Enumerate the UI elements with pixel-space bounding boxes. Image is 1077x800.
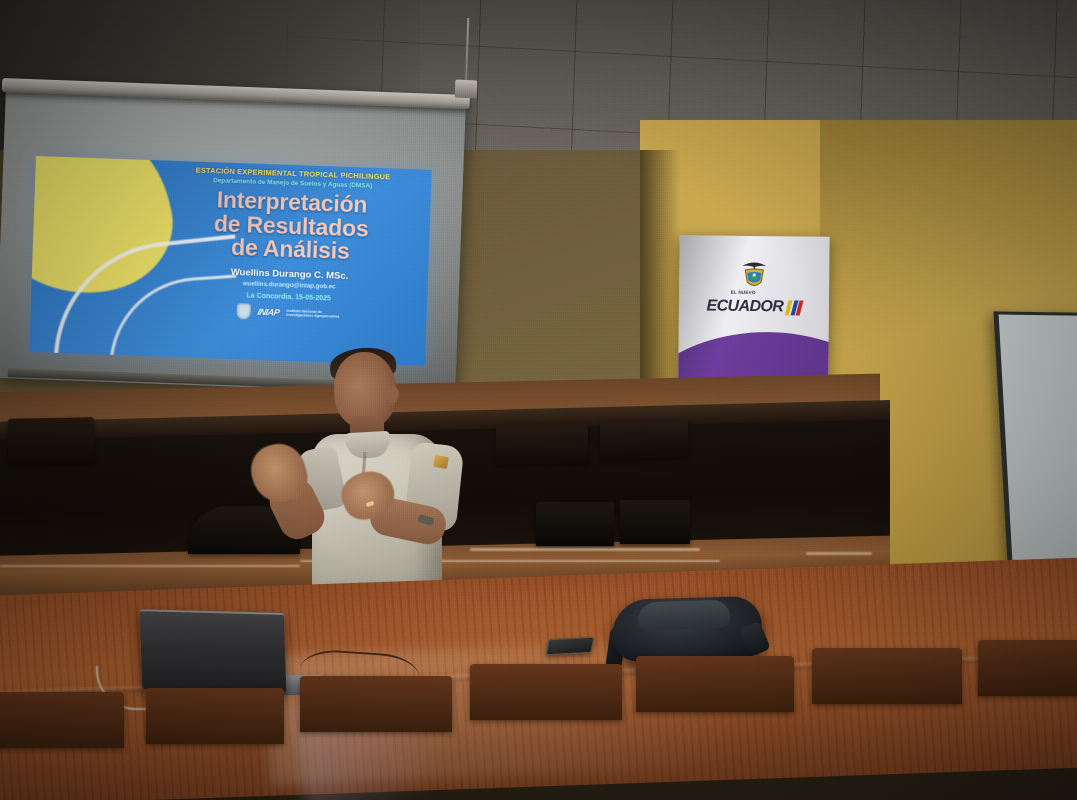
chair-back — [496, 423, 588, 465]
front-row-seatback — [812, 648, 962, 704]
chair-back — [8, 417, 94, 465]
front-row-seatback — [636, 656, 794, 712]
iniap-wordmark-logo: INIAP — [257, 307, 281, 318]
smartphone[interactable] — [545, 637, 594, 656]
chair-back — [620, 500, 690, 544]
bench-edge-gleam — [806, 552, 872, 555]
chair-back — [536, 502, 614, 546]
bench-edge-gleam — [0, 565, 300, 567]
presenter-ear — [386, 386, 399, 403]
projected-slide: ESTACIÓN EXPERIMENTAL TROPICAL PICHILING… — [29, 156, 432, 366]
front-row-seatback — [300, 676, 452, 732]
front-row-seatback — [0, 692, 124, 748]
presenter-sleeve-logo — [433, 455, 449, 469]
slide-text-block: ESTACIÓN EXPERIMENTAL TROPICAL PICHILING… — [155, 164, 425, 325]
iniap-subtext-line-2: Investigaciones Agropecuarias — [286, 313, 339, 319]
front-row-seatback — [146, 688, 284, 744]
presentation-photo-scene: ESTACIÓN EXPERIMENTAL TROPICAL PICHILING… — [0, 0, 1077, 800]
front-row-seatback — [470, 664, 622, 720]
backpack-flap — [638, 599, 731, 630]
chair-back — [600, 419, 688, 459]
screen-casing-end-cap — [455, 80, 478, 99]
shield-logo-icon — [237, 303, 252, 319]
bench-edge-gleam — [470, 548, 700, 551]
iniap-subtext-logo: Instituto Nacional de Investigaciones Ag… — [286, 308, 339, 319]
slide-title: Interpretación de Resultados de Análisis — [158, 186, 425, 266]
front-row-seatback — [978, 640, 1077, 696]
